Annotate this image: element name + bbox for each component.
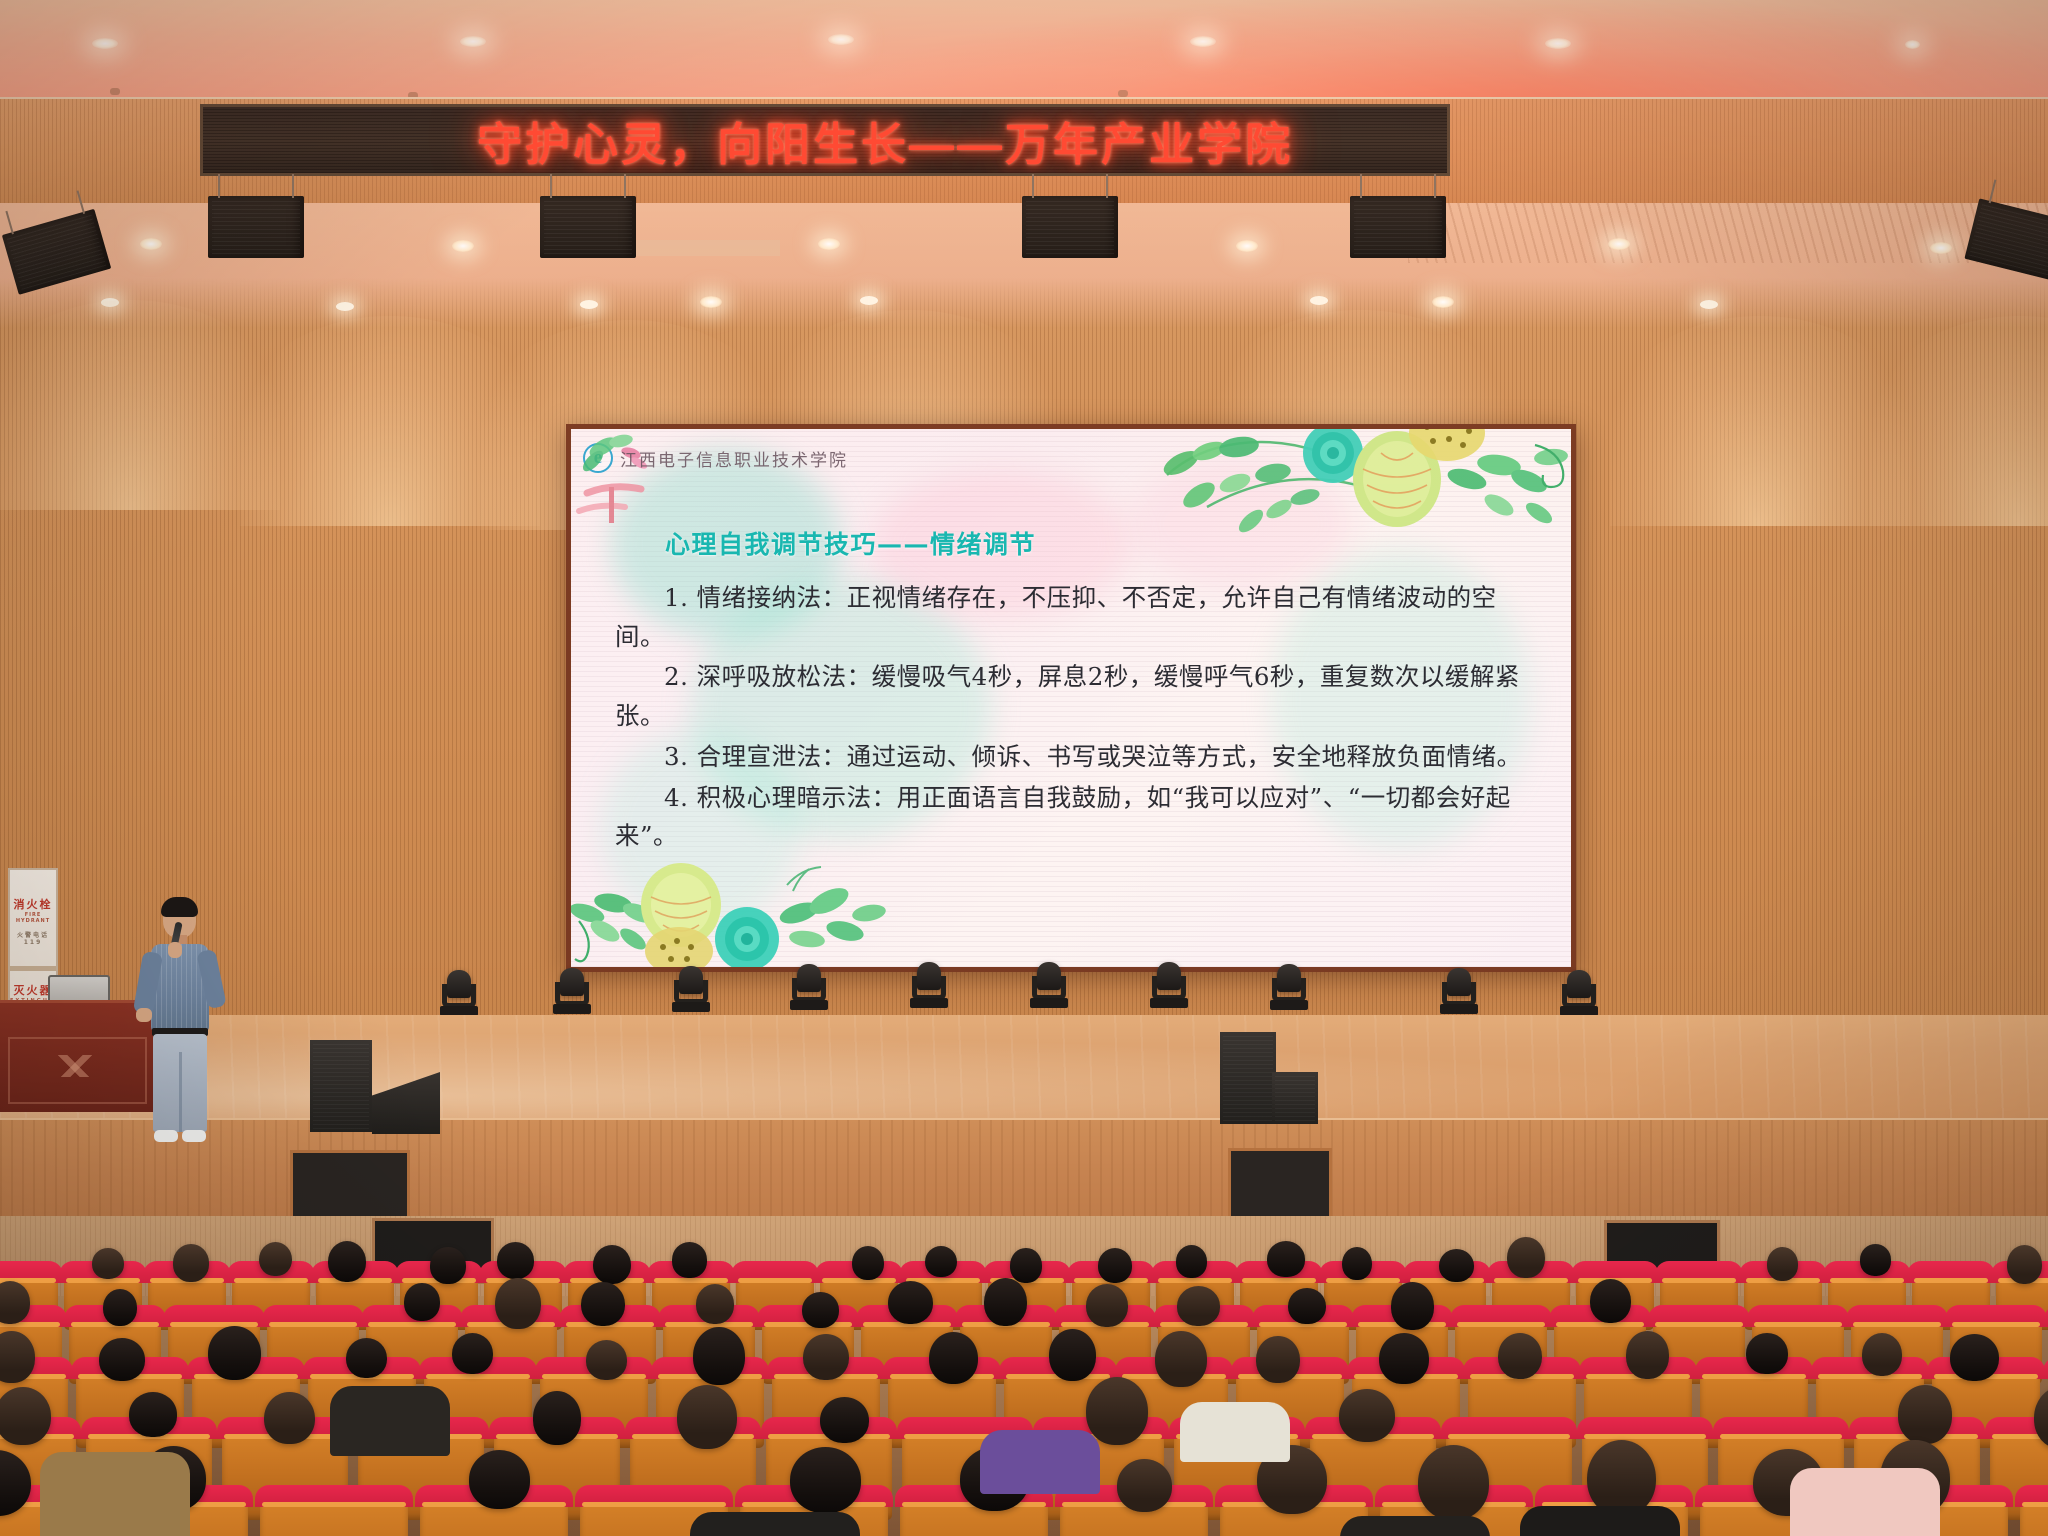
audience-member bbox=[802, 1292, 838, 1328]
audience-member bbox=[495, 1278, 541, 1329]
moving-head-light bbox=[553, 966, 591, 1014]
wall-spot-light bbox=[580, 300, 598, 309]
stage-front-vent bbox=[290, 1150, 410, 1224]
moving-head-light bbox=[790, 962, 828, 1010]
audience-member bbox=[925, 1246, 957, 1278]
auditorium-photo: 守护心灵，向阳生长——万年产业学院 bbox=[0, 0, 2048, 1536]
ceiling-downlight bbox=[460, 36, 486, 47]
audience-member bbox=[103, 1289, 138, 1326]
audience-seating bbox=[0, 1216, 2048, 1536]
slide-item: 1. 情绪接纳法：正视情绪存在，不压抑、不否定，允许自己有情绪波动的空间。 bbox=[615, 579, 1527, 656]
stage-monitor-speaker bbox=[1220, 1032, 1276, 1124]
audience-member bbox=[430, 1247, 465, 1284]
audience-member bbox=[1342, 1247, 1372, 1280]
audience-member bbox=[1379, 1333, 1429, 1384]
presenter-shoe bbox=[182, 1130, 206, 1142]
presenter-hand bbox=[136, 1008, 152, 1022]
wall-spot-light bbox=[336, 302, 354, 311]
moving-head-light bbox=[440, 968, 478, 1016]
presenter-hand bbox=[168, 942, 182, 958]
audience-member bbox=[1117, 1459, 1172, 1512]
moving-head-light bbox=[1270, 962, 1308, 1010]
audience-member bbox=[1767, 1247, 1798, 1280]
moving-head-light bbox=[910, 960, 948, 1008]
audience-member bbox=[672, 1242, 707, 1277]
audience-member bbox=[677, 1385, 737, 1449]
line-array-speaker bbox=[208, 196, 304, 258]
line-array-speaker bbox=[1350, 196, 1446, 258]
audience-member bbox=[929, 1332, 978, 1384]
audience-member bbox=[404, 1283, 440, 1321]
audience-member bbox=[208, 1326, 261, 1380]
auditorium-seat bbox=[260, 1492, 408, 1536]
audience-member bbox=[1439, 1249, 1474, 1282]
audience-member-coat bbox=[330, 1386, 450, 1456]
ceiling-downlight bbox=[452, 240, 474, 252]
wall-spot-light bbox=[1700, 300, 1718, 309]
ceiling-downlight bbox=[1930, 242, 1952, 254]
slide-institution-logo: e 江西电子信息职业技术学院 bbox=[583, 443, 848, 473]
wall-light-wash bbox=[1610, 316, 1910, 526]
moving-head-light bbox=[1030, 960, 1068, 1008]
audience-member bbox=[1288, 1288, 1325, 1324]
audience-member bbox=[888, 1281, 933, 1324]
audience-member-coat bbox=[980, 1430, 1100, 1494]
ceiling-downlight bbox=[818, 238, 840, 250]
audience-member bbox=[1898, 1385, 1952, 1444]
audience-member bbox=[790, 1447, 861, 1513]
audience-member bbox=[581, 1282, 626, 1327]
audience-member bbox=[1587, 1440, 1656, 1517]
audience-member bbox=[1418, 1445, 1489, 1520]
audience-member bbox=[1391, 1282, 1435, 1330]
audience-member bbox=[820, 1397, 869, 1444]
ceiling-downlight bbox=[140, 238, 162, 250]
audience-member bbox=[264, 1392, 314, 1445]
slide-title: 心理自我调节技巧——情绪调节 bbox=[665, 525, 1036, 561]
presenter bbox=[140, 900, 220, 1150]
audience-member bbox=[1086, 1377, 1148, 1445]
ceiling-downlight bbox=[828, 34, 854, 45]
audience-member bbox=[1339, 1389, 1395, 1442]
moving-head-light bbox=[1560, 968, 1598, 1016]
audience-member bbox=[328, 1241, 366, 1282]
audience-member bbox=[497, 1242, 534, 1279]
audience-member bbox=[99, 1338, 145, 1381]
ceiling-downlight bbox=[700, 296, 722, 308]
fire-emergency-note: 火警电话119 bbox=[10, 930, 56, 946]
fire-hydrant-label: 消火栓 bbox=[10, 896, 56, 912]
slide-body: 1. 情绪接纳法：正视情绪存在，不压抑、不否定，允许自己有情绪波动的空间。 2.… bbox=[615, 579, 1527, 858]
ceiling-red-glow bbox=[819, 0, 2048, 100]
audience-member bbox=[173, 1244, 210, 1282]
audience-member bbox=[1177, 1286, 1220, 1326]
audience-member bbox=[259, 1242, 292, 1277]
stage-front-vent bbox=[1228, 1148, 1332, 1224]
audience-member-coat bbox=[1340, 1516, 1490, 1536]
presenter-shoe bbox=[154, 1130, 178, 1142]
audience-member bbox=[1590, 1279, 1631, 1323]
slide-item: 3. 合理宣泄法：通过运动、倾诉、书写或哭泣等方式，安全地释放负面情绪。 bbox=[615, 738, 1527, 777]
stage-monitor-speaker bbox=[310, 1040, 372, 1132]
smoke-detector bbox=[1118, 90, 1128, 97]
audience-member bbox=[1010, 1248, 1041, 1282]
ceiling-downlight bbox=[1608, 238, 1630, 250]
led-banner-text: 守护心灵，向阳生长——万年产业学院 bbox=[357, 108, 1293, 173]
line-array-speaker bbox=[1022, 196, 1118, 258]
presentation-slide: e 江西电子信息职业技术学院 心理自我调节技巧——情绪调节 1. 情绪接纳法：正… bbox=[571, 429, 1571, 967]
audience-member bbox=[2007, 1245, 2042, 1284]
presenter-hair bbox=[161, 897, 198, 917]
ceiling-downlight bbox=[1432, 296, 1454, 308]
ceiling bbox=[0, 0, 2048, 100]
audience-member bbox=[1746, 1333, 1788, 1374]
audience-member bbox=[0, 1387, 51, 1445]
audience-member bbox=[1950, 1334, 2000, 1382]
wall-spot-light bbox=[860, 296, 878, 305]
audience-member bbox=[452, 1333, 493, 1374]
line-array-speaker bbox=[540, 196, 636, 258]
wall-spot-light bbox=[1310, 296, 1328, 305]
slide-item: 2. 深呼吸放松法：缓慢吸气4秒，屏息2秒，缓慢呼气6秒，重复数次以缓解紧张。 bbox=[615, 658, 1527, 735]
audience-member bbox=[1626, 1331, 1669, 1379]
audience-member bbox=[984, 1278, 1027, 1326]
audience-member-coat bbox=[1790, 1468, 1940, 1536]
audience-member bbox=[803, 1334, 849, 1381]
audience-member-coat bbox=[690, 1512, 860, 1536]
audience-member bbox=[696, 1284, 734, 1324]
audience-member bbox=[1507, 1237, 1545, 1278]
audience-member bbox=[1049, 1329, 1096, 1381]
wall-light-wash bbox=[0, 300, 280, 510]
smoke-detector bbox=[110, 88, 120, 95]
auditorium-seat bbox=[2020, 1492, 2048, 1536]
audience-member bbox=[593, 1245, 631, 1285]
audience-member bbox=[129, 1392, 177, 1437]
audience-member bbox=[92, 1248, 124, 1279]
ceiling-downlight bbox=[92, 38, 118, 49]
presenter-trousers bbox=[153, 1034, 207, 1132]
audience-member-coat bbox=[1180, 1402, 1290, 1462]
ceiling-downlight bbox=[1190, 36, 1216, 47]
stage-monitor-speaker bbox=[1272, 1072, 1318, 1124]
audience-member bbox=[469, 1450, 530, 1509]
audience-member bbox=[1176, 1245, 1207, 1278]
audience-member bbox=[1098, 1248, 1132, 1283]
moving-head-light bbox=[672, 964, 710, 1012]
podium bbox=[0, 1000, 155, 1112]
ceiling-downlight bbox=[1236, 240, 1258, 252]
audience-member bbox=[586, 1340, 627, 1380]
audience-member bbox=[1860, 1244, 1891, 1275]
moving-head-light bbox=[1150, 960, 1188, 1008]
audience-member bbox=[1086, 1284, 1128, 1327]
audience-member bbox=[1498, 1333, 1542, 1379]
audience-member-coat bbox=[40, 1452, 190, 1536]
audience-member bbox=[693, 1327, 745, 1385]
audience-member bbox=[852, 1246, 884, 1280]
watercolor-leaves-decoration bbox=[571, 847, 901, 967]
ceiling-downlight bbox=[1545, 38, 1571, 49]
fire-hydrant-sublabel: FIRE HYDRANT bbox=[10, 912, 56, 924]
slide-institution-name: 江西电子信息职业技术学院 bbox=[620, 446, 848, 471]
ceiling-downlight bbox=[1905, 40, 1920, 49]
led-display-screen: e 江西电子信息职业技术学院 心理自我调节技巧——情绪调节 1. 情绪接纳法：正… bbox=[566, 424, 1576, 972]
slide-item: 4. 积极心理暗示法：用正面语言自我鼓励，如“我可以应对”、“一切都会好起来”。 bbox=[615, 779, 1527, 856]
audience-member bbox=[1862, 1333, 1902, 1376]
moving-head-light bbox=[1440, 966, 1478, 1014]
audience-member bbox=[1267, 1241, 1305, 1277]
watercolor-leaves-decoration bbox=[1147, 429, 1571, 567]
led-banner: 守护心灵，向阳生长——万年产业学院 bbox=[200, 104, 1450, 176]
audience-member bbox=[533, 1391, 581, 1445]
audience-member bbox=[1256, 1336, 1299, 1383]
audience-member bbox=[346, 1338, 387, 1378]
audience-member-coat bbox=[1520, 1506, 1680, 1536]
audience-member bbox=[1155, 1331, 1207, 1387]
